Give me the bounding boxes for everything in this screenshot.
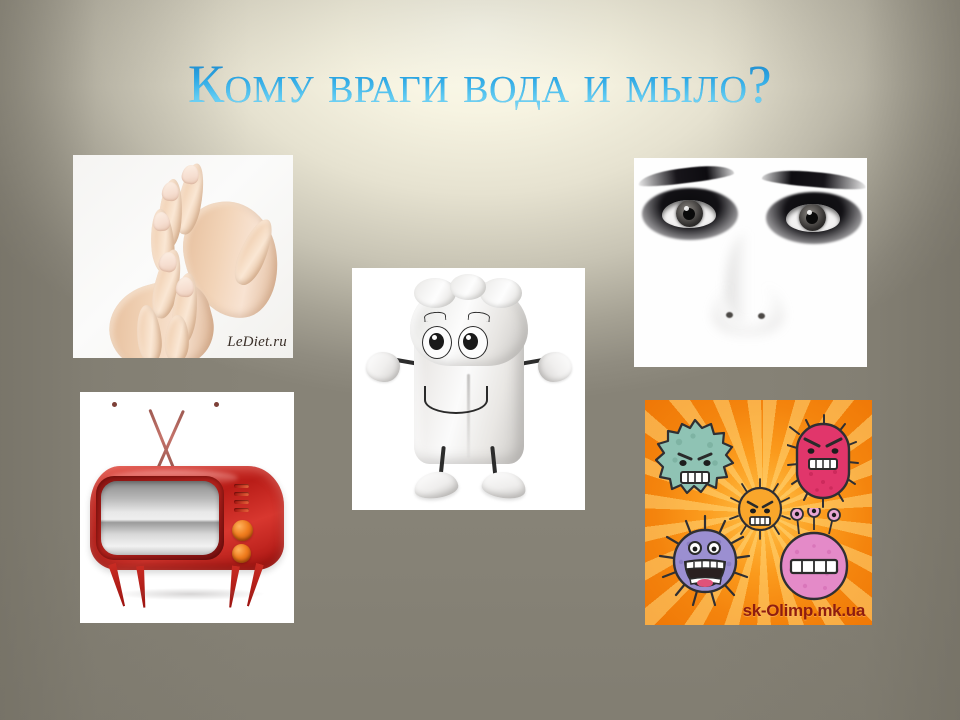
tooth-character-image[interactable] xyxy=(352,268,585,510)
tooth-left-glove xyxy=(366,352,400,382)
tooth-smile xyxy=(424,386,488,414)
hands-watermark: LeDiet.ru xyxy=(227,334,287,351)
germs-image[interactable]: sk-Olimp.mk.ua xyxy=(645,400,872,625)
page-title: Кому враги вода и мыло? xyxy=(0,56,960,113)
tv-speaker-slot-3 xyxy=(234,500,249,504)
germ-red xyxy=(787,412,859,510)
tv-channel-knob[interactable] xyxy=(232,520,253,541)
tv-antenna-right-tip xyxy=(214,402,219,407)
left-eye-glint xyxy=(684,206,689,211)
germ-red-icon xyxy=(787,412,859,510)
germ-pink xyxy=(771,508,857,608)
tv-speaker-slot-4 xyxy=(234,508,249,512)
germ-pink-icon xyxy=(771,508,857,608)
tooth-cusp-middle xyxy=(450,274,486,300)
tooth-right-eye-glint xyxy=(466,335,471,340)
tooth-left-eye-glint xyxy=(432,335,437,340)
presentation-slide: Кому враги вода и мыло? LeDiet.ru xyxy=(0,0,960,720)
germ-purple-icon xyxy=(659,514,751,614)
tv-ground-shadow xyxy=(116,588,264,600)
tooth-right-glove xyxy=(538,352,572,382)
germ-green-icon xyxy=(655,418,735,498)
tv-screen xyxy=(101,481,219,555)
right-nostril xyxy=(758,313,765,319)
germ-green xyxy=(655,418,735,498)
hands-photo[interactable]: LeDiet.ru xyxy=(73,155,293,358)
retro-tv-image[interactable] xyxy=(80,392,294,623)
right-eye xyxy=(786,204,840,232)
tooth-cusp-right xyxy=(480,278,522,308)
tv-speaker-slot-2 xyxy=(234,492,249,496)
left-nostril xyxy=(726,312,733,318)
right-eye-glint xyxy=(807,210,812,215)
tv-antenna-left-tip xyxy=(112,402,117,407)
tv-volume-knob[interactable] xyxy=(232,544,251,563)
tv-speaker-slot-1 xyxy=(234,484,249,488)
germs-watermark: sk-Olimp.mk.ua xyxy=(743,601,865,621)
left-eye xyxy=(662,200,716,228)
germ-purple xyxy=(659,514,751,614)
eyes-photo[interactable] xyxy=(634,158,867,367)
